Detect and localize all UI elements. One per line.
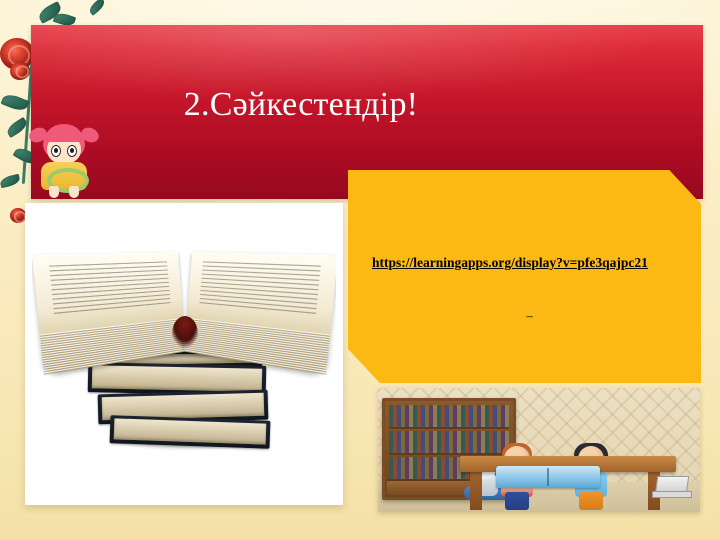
laptop-base xyxy=(652,491,692,498)
book-spine xyxy=(172,316,198,352)
text-lines xyxy=(199,261,321,317)
book-pages xyxy=(92,365,262,392)
library-illustration xyxy=(378,388,700,512)
laptop-icon xyxy=(652,476,690,498)
shelf xyxy=(389,405,509,429)
book-item xyxy=(110,415,271,449)
books-image xyxy=(32,216,336,494)
dash-text: – xyxy=(348,308,701,324)
leg-icon xyxy=(49,186,59,198)
cartoon-girl-character xyxy=(33,122,95,200)
open-book-icon xyxy=(496,466,600,488)
book-page-left xyxy=(32,252,186,375)
page-title: 2.Сәйкестендір! xyxy=(31,87,703,123)
text-lines xyxy=(49,261,171,317)
leg-icon xyxy=(69,186,79,198)
shelf xyxy=(389,431,509,455)
link-callout-box: https://learningapps.org/display?v=pfe3q… xyxy=(348,170,701,383)
bangs-icon xyxy=(45,130,83,142)
learningapps-link[interactable]: https://learningapps.org/display?v=pfe3q… xyxy=(372,255,672,271)
book-page-right xyxy=(184,252,336,375)
presentation-slide: 2.Сәйкестендір! xyxy=(0,0,720,540)
open-book xyxy=(54,252,316,360)
table-leg xyxy=(470,472,482,510)
eye-icon xyxy=(51,145,61,157)
eye-icon xyxy=(67,145,77,157)
legs-icon xyxy=(49,186,79,198)
